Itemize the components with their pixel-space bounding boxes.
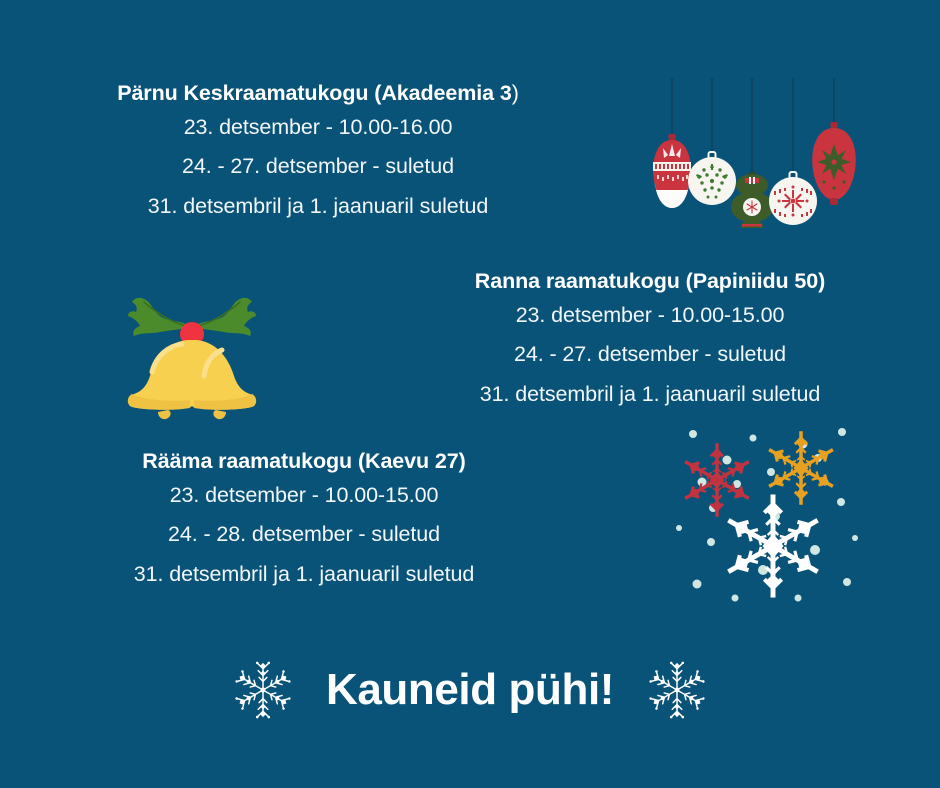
ornament-red-teardrop xyxy=(653,134,691,208)
ornament-white-sphere-red xyxy=(769,172,817,225)
hours-line: 31. detsembril ja 1. jaanuaril suletud xyxy=(58,187,578,227)
library-address: (Papiniidu 50 xyxy=(686,269,819,293)
greeting-text: Kauneid pühi! xyxy=(326,665,614,715)
christmas-bells-icon xyxy=(112,272,272,420)
library-address: (Kaevu 27 xyxy=(358,449,459,473)
ornament-green-scallop xyxy=(731,172,773,228)
library-address: (Akadeemia 3 xyxy=(374,81,511,105)
library-block-ranna-raamatukogu: Ranna raamatukogu (Papiniidu 50) 23. det… xyxy=(400,268,900,414)
snowflake-cluster-icon xyxy=(655,420,865,612)
library-name: Ranna raamatukogu xyxy=(475,269,686,293)
hours-line: 24. - 27. detsember - suletud xyxy=(400,335,900,375)
library-heading: Pärnu Keskraamatukogu (Akadeemia 3) xyxy=(58,80,578,108)
library-address-paren: ) xyxy=(818,269,825,293)
hours-line: 23. detsember - 10.00-15.00 xyxy=(44,476,564,516)
hanging-ornaments-icon xyxy=(645,78,885,228)
poster-canvas: Pärnu Keskraamatukogu (Akadeemia 3) 23. … xyxy=(0,0,940,788)
library-address-paren: ) xyxy=(512,81,519,105)
ornament-red-teardrop-poinsettia xyxy=(812,122,855,205)
snowflake-icon xyxy=(648,661,706,719)
ornament-white-sphere-green xyxy=(688,152,736,205)
hours-line: 23. detsember - 10.00-16.00 xyxy=(58,108,578,148)
library-address-paren: ) xyxy=(459,449,466,473)
library-name: Rääma raamatukogu xyxy=(142,449,358,473)
library-name: Pärnu Keskraamatukogu xyxy=(117,81,374,105)
hours-line: 31. detsembril ja 1. jaanuaril suletud xyxy=(400,375,900,415)
gold-snowflake xyxy=(766,431,837,505)
snowflake-icon xyxy=(234,661,292,719)
hours-line: 24. - 27. detsember - suletud xyxy=(58,147,578,187)
library-block-raama-raamatukogu: Rääma raamatukogu (Kaevu 27) 23. detsemb… xyxy=(44,448,564,594)
library-heading: Rääma raamatukogu (Kaevu 27) xyxy=(44,448,564,476)
snow-dots xyxy=(676,428,858,602)
footer-greeting-bar: Kauneid pühi! xyxy=(0,645,940,735)
library-block-parnu-keskraamatukogu: Pärnu Keskraamatukogu (Akadeemia 3) 23. … xyxy=(58,80,578,226)
hours-line: 31. detsembril ja 1. jaanuaril suletud xyxy=(44,555,564,595)
hours-line: 24. - 28. detsember - suletud xyxy=(44,515,564,555)
bell-left xyxy=(128,340,192,419)
bell-right xyxy=(192,340,256,419)
red-snowflake xyxy=(682,443,753,517)
library-heading: Ranna raamatukogu (Papiniidu 50) xyxy=(400,268,900,296)
hours-line: 23. detsember - 10.00-15.00 xyxy=(400,296,900,336)
white-snowflake xyxy=(723,494,822,597)
